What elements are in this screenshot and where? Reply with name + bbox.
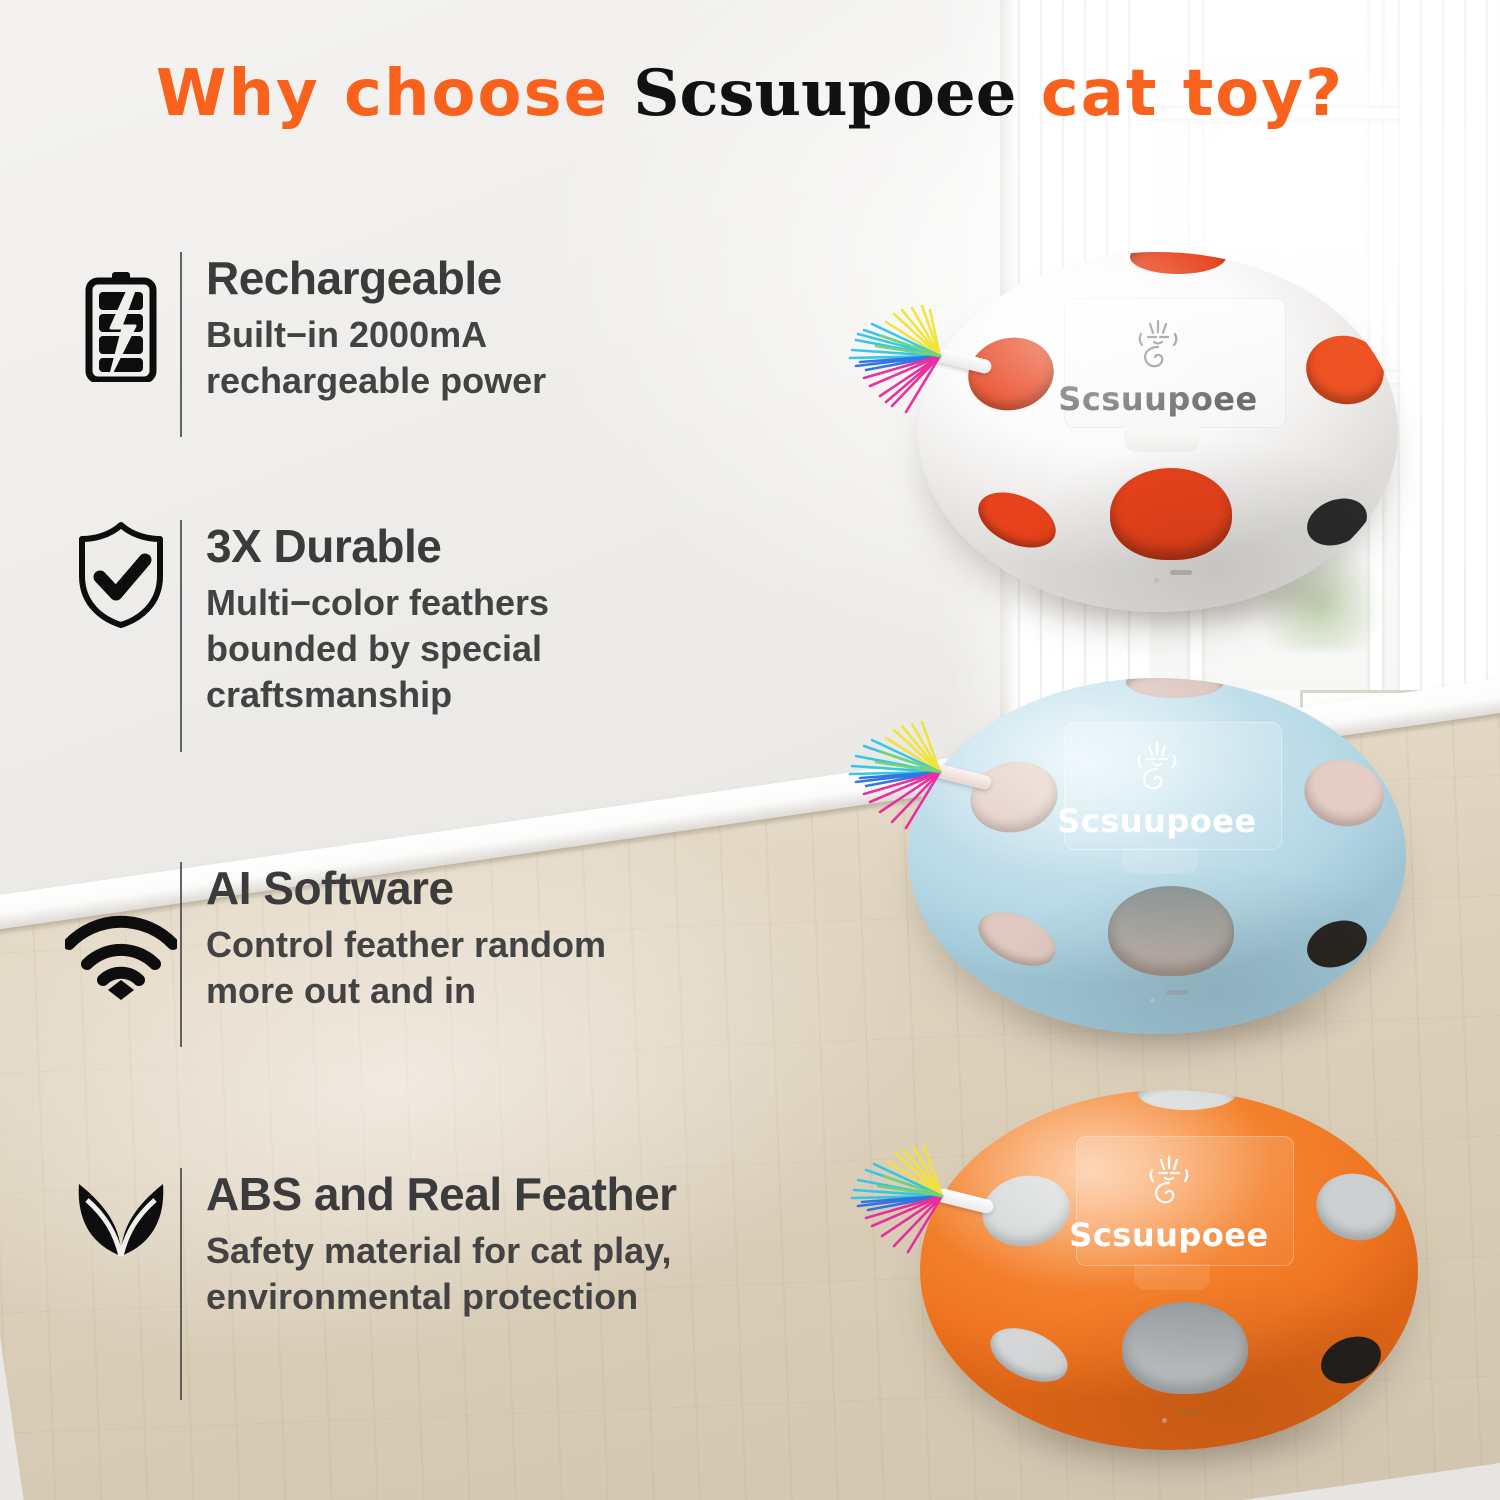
feather-barbs [836, 716, 996, 836]
feature-durable: 3X Durable Multi−color feathers bounded … [62, 520, 636, 752]
feature-rechargeable: Rechargeable Built−in 2000mA rechargeabl… [62, 252, 626, 437]
feature-heading: Rechargeable [206, 254, 626, 302]
feature-heading: AI Software [206, 864, 676, 912]
leaf-icon [62, 1168, 180, 1286]
wifi-icon [62, 862, 180, 1000]
feature-text: ABS and Real Feather Safety material for… [206, 1168, 677, 1320]
feature-divider [180, 520, 182, 752]
feature-divider [180, 1168, 182, 1400]
feature-description: Multi−color feathers bounded by special … [206, 580, 636, 718]
feature-description: Built−in 2000mA rechargeable power [206, 312, 626, 404]
feature-divider [180, 862, 182, 1047]
feature-divider [180, 252, 182, 437]
page-title: Why choose Scsuupoee cat toy? [0, 56, 1500, 131]
rainbow-feather-wand [836, 300, 996, 420]
feather-barbs [838, 1140, 998, 1260]
feature-ai-software: AI Software Control feather random more … [62, 862, 676, 1047]
feature-text: 3X Durable Multi−color feathers bounded … [206, 520, 636, 719]
battery-charging-icon [62, 252, 180, 382]
rainbow-feather-wand [838, 1140, 998, 1260]
title-brand: Scsuupoee [633, 56, 1016, 131]
feature-heading: ABS and Real Feather [206, 1170, 677, 1218]
feature-heading: 3X Durable [206, 522, 636, 570]
feather-barbs [836, 300, 996, 420]
feature-text: Rechargeable Built−in 2000mA rechargeabl… [206, 252, 626, 404]
infographic-canvas: Why choose Scsuupoee cat toy? Rechargeab… [0, 0, 1500, 1500]
feature-description: Control feather random more out and in [206, 922, 676, 1014]
feature-description: Safety material for cat play, environmen… [206, 1228, 676, 1320]
title-part-1: Why choose [156, 57, 633, 131]
rainbow-feather-wand [836, 716, 996, 836]
shield-check-icon [62, 520, 180, 656]
feature-abs-real-feather: ABS and Real Feather Safety material for… [62, 1168, 677, 1400]
title-part-2: cat toy? [1016, 57, 1344, 131]
feature-text: AI Software Control feather random more … [206, 862, 676, 1014]
